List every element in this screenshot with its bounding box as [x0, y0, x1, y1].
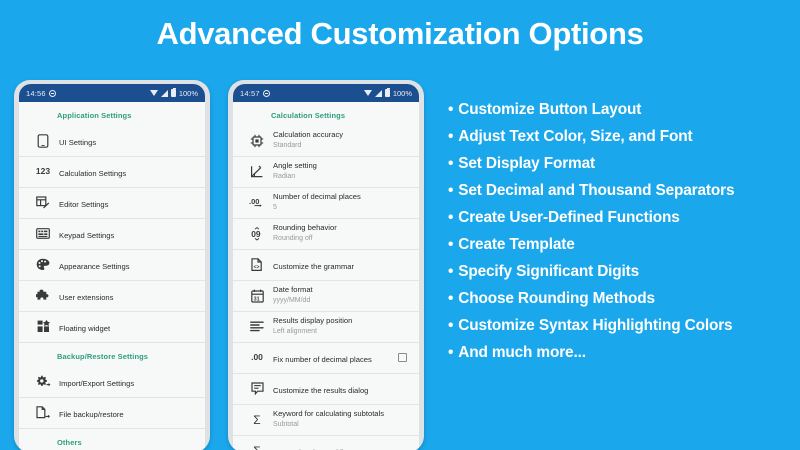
bullet-marker: • [448, 263, 453, 280]
list-item-label: User extensions [59, 293, 113, 302]
bullet-item: •And much more... [448, 339, 796, 366]
sigma-icon: Σ [243, 414, 271, 426]
left-phone: 14:56 100% Application Settings UI Setti… [14, 80, 210, 450]
list-item[interactable]: File backup/restore [19, 398, 205, 427]
bullet-marker: • [448, 290, 453, 307]
list-item[interactable]: User extensions [19, 281, 205, 310]
list-item-label: Rounding behavior [273, 223, 411, 233]
status-clock: 14:56 [26, 89, 46, 98]
list-item-label: File backup/restore [59, 410, 124, 419]
status-bar: 14:56 100% [19, 84, 205, 102]
list-item-value: 5 [273, 203, 411, 213]
puzzle-icon [29, 289, 57, 302]
list-item[interactable]: <> Customize the grammar [233, 250, 419, 279]
svg-text:<>: <> [254, 264, 260, 270]
file-arrow-icon [29, 406, 57, 420]
chip-icon [243, 134, 271, 148]
dot-00-icon: .00 [243, 353, 271, 362]
bullet-marker: • [448, 344, 453, 361]
bullet-item: •Set Display Format [448, 150, 796, 177]
list-item[interactable]: Customize the results dialog [233, 374, 419, 403]
list-item[interactable]: UI Settings [19, 126, 205, 155]
edit-table-icon [29, 196, 57, 209]
bullet-label: Choose Rounding Methods [458, 290, 655, 307]
bullet-label: Customize Syntax Highlighting Colors [458, 317, 732, 334]
bullet-item: •Specify Significant Digits [448, 258, 796, 285]
bullet-marker: • [448, 101, 453, 118]
alarm-icon [263, 90, 270, 97]
list-item-value: Radian [273, 172, 411, 182]
bullet-marker: • [448, 128, 453, 145]
list-item-value: Left alignment [273, 327, 411, 337]
bullet-marker: • [448, 155, 453, 172]
list-item[interactable]: Angle setting Radian [233, 157, 419, 186]
numbers-123-icon: 123 [29, 167, 57, 176]
section-header-application: Application Settings [19, 102, 205, 126]
svg-text:31: 31 [253, 296, 259, 302]
list-item[interactable]: Σ Customize the total line [233, 436, 419, 450]
list-item[interactable]: Appearance Settings [19, 250, 205, 279]
list-item[interactable]: .00 Fix number of decimal places [233, 343, 419, 372]
align-left-icon [243, 321, 271, 333]
list-item-label: Date format [273, 285, 411, 295]
list-item-value: Subtotal [273, 420, 411, 430]
list-item[interactable]: Keypad Settings [19, 219, 205, 248]
settings-list[interactable]: Application Settings UI Settings 123 Cal… [19, 102, 205, 450]
svg-text:.00: .00 [249, 197, 259, 206]
list-item-label: Editor Settings [59, 200, 108, 209]
list-item-label: Appearance Settings [59, 262, 130, 271]
list-item-label: Number of decimal places [273, 192, 411, 202]
bullet-label: Adjust Text Color, Size, and Font [458, 128, 692, 145]
calculation-settings-list[interactable]: Calculation Settings Calculation accurac… [233, 102, 419, 450]
bullet-label: Customize Button Layout [458, 101, 641, 118]
battery-icon [171, 89, 176, 97]
left-phone-screen: 14:56 100% Application Settings UI Setti… [19, 84, 205, 450]
list-item[interactable]: 09 Rounding behavior Rounding off [233, 219, 419, 248]
wifi-icon [150, 90, 158, 96]
bullet-label: Create User-Defined Functions [458, 209, 679, 226]
bullet-label: Set Display Format [458, 155, 595, 172]
signal-icon [161, 90, 168, 97]
right-phone-screen: 14:57 100% Calculation Settings Calculat… [233, 84, 419, 450]
list-item-label: Calculation Settings [59, 169, 126, 178]
section-header-others: Others [19, 429, 205, 450]
bullet-item: •Create Template [448, 231, 796, 258]
list-item[interactable]: 31 Date format yyyy/MM/dd [233, 281, 419, 310]
section-header-backup: Backup/Restore Settings [19, 343, 205, 367]
signal-icon [375, 90, 382, 97]
list-item-label: Floating widget [59, 324, 110, 333]
bullet-label: Create Template [458, 236, 574, 253]
palette-icon [29, 258, 57, 271]
gear-arrow-icon [29, 375, 57, 388]
list-item[interactable]: .00 Number of decimal places 5 [233, 188, 419, 217]
list-item-label: Import/Export Settings [59, 379, 134, 388]
bullet-label: Specify Significant Digits [458, 263, 639, 280]
feature-bullet-list: •Customize Button Layout •Adjust Text Co… [448, 96, 796, 366]
list-item-value: Rounding off [273, 234, 411, 244]
bullet-item: •Create User-Defined Functions [448, 204, 796, 231]
list-item-label: UI Settings [59, 138, 96, 147]
svg-text:09: 09 [251, 228, 261, 238]
list-item-label: Angle setting [273, 161, 411, 171]
wifi-icon [364, 90, 372, 96]
battery-icon [385, 89, 390, 97]
keypad-icon [29, 228, 57, 239]
status-bar: 14:57 100% [233, 84, 419, 102]
list-item-label: Keypad Settings [59, 231, 114, 240]
alarm-icon [49, 90, 56, 97]
right-phone: 14:57 100% Calculation Settings Calculat… [228, 80, 424, 450]
list-item-label: Fix number of decimal places [273, 355, 372, 364]
list-item-value: yyyy/MM/dd [273, 296, 411, 306]
dialog-icon [243, 382, 271, 395]
widget-icon [29, 320, 57, 333]
fix-decimal-places-checkbox[interactable] [398, 353, 407, 362]
decimal-00-icon: .00 [243, 196, 271, 209]
list-item-label: Calculation accuracy [273, 130, 411, 140]
bullet-marker: • [448, 182, 453, 199]
bullet-item: •Adjust Text Color, Size, and Font [448, 123, 796, 150]
list-item[interactable]: Import/Export Settings [19, 367, 205, 396]
list-item[interactable]: Σ Keyword for calculating subtotals Subt… [233, 405, 419, 434]
battery-percent: 100% [179, 89, 198, 98]
list-item[interactable]: 123 Calculation Settings [19, 157, 205, 186]
bullet-marker: • [448, 209, 453, 226]
phone-icon [29, 134, 57, 148]
list-item-label: Customize the results dialog [273, 386, 368, 395]
bullet-marker: • [448, 317, 453, 334]
bullet-item: •Set Decimal and Thousand Separators [448, 177, 796, 204]
bullet-marker: • [448, 236, 453, 253]
list-item[interactable]: Editor Settings [19, 188, 205, 217]
list-item-label: Keyword for calculating subtotals [273, 409, 411, 419]
bullet-item: •Customize Button Layout [448, 96, 796, 123]
sigma-icon: Σ [243, 445, 271, 450]
calendar-31-icon: 31 [243, 289, 271, 303]
bullet-item: •Customize Syntax Highlighting Colors [448, 312, 796, 339]
bullet-label: And much more... [458, 344, 586, 361]
list-item[interactable]: Calculation accuracy Standard [233, 126, 419, 155]
angle-icon [243, 165, 271, 179]
rounding-09-icon: 09 [243, 227, 271, 241]
bullet-label: Set Decimal and Thousand Separators [458, 182, 734, 199]
list-item[interactable]: Floating widget [19, 312, 205, 341]
battery-percent: 100% [393, 89, 412, 98]
page-title: Advanced Customization Options [0, 16, 800, 52]
list-item-label: Customize the grammar [273, 262, 354, 271]
list-item[interactable]: Results display position Left alignment [233, 312, 419, 341]
section-header-calculation: Calculation Settings [233, 102, 419, 126]
list-item-label: Results display position [273, 316, 411, 326]
status-clock: 14:57 [240, 89, 260, 98]
list-item-value: Standard [273, 141, 411, 151]
bullet-item: •Choose Rounding Methods [448, 285, 796, 312]
code-file-icon: <> [243, 258, 271, 272]
